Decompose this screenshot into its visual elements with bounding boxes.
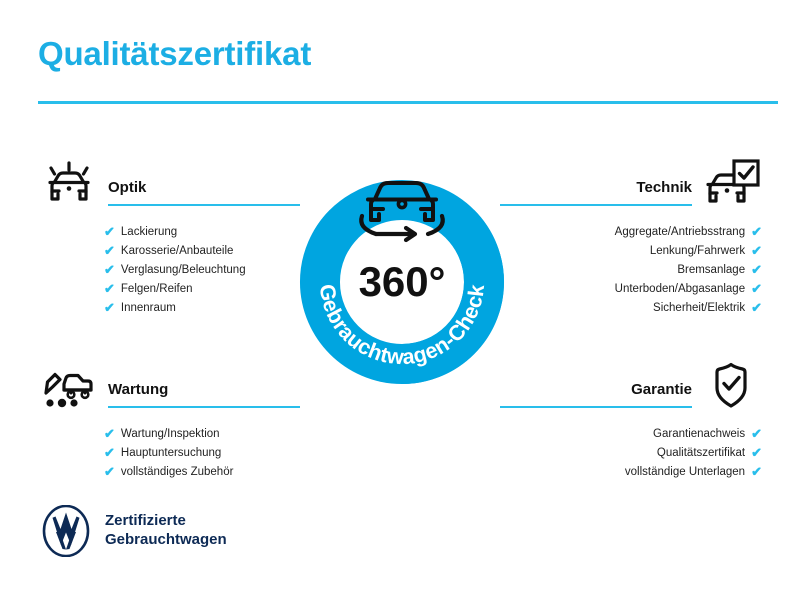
left-column: Optik ✔ Lackierung ✔ Karosserie/Anbautei… (38, 158, 300, 510)
section-technik-title-wrap: Technik (500, 158, 692, 206)
list-item: ✔ Qualitätszertifikat (657, 444, 762, 463)
check-icon: ✔ (104, 282, 115, 295)
list-item: ✔ Sicherheit/Elektrik (653, 299, 762, 318)
list-item: ✔ Lenkung/Fahrwerk (650, 242, 762, 261)
car-check-icon (700, 158, 762, 212)
list-item-label: Lenkung/Fahrwerk (650, 242, 745, 261)
list-item-label: Wartung/Inspektion (121, 425, 220, 444)
check-icon: ✔ (751, 301, 762, 314)
list-item: ✔ Wartung/Inspektion (104, 425, 300, 444)
section-optik: Optik ✔ Lackierung ✔ Karosserie/Anbautei… (38, 158, 300, 318)
list-item: ✔ Bremsanlage (677, 261, 762, 280)
list-item-label: Qualitätszertifikat (657, 444, 745, 463)
list-item: ✔ vollständige Unterlagen (625, 463, 762, 482)
section-title: Optik (108, 180, 300, 197)
section-garantie-header: Garantie (500, 360, 762, 416)
section-underline (108, 406, 300, 408)
list-item-label: Lackierung (121, 223, 177, 242)
section-garantie-list: ✔ Garantienachweis ✔ Qualitätszertifikat… (500, 425, 762, 482)
list-item-label: vollständige Unterlagen (625, 463, 745, 482)
list-item-label: Unterboden/Abgasanlage (615, 280, 745, 299)
car-service-icon (38, 360, 100, 414)
shield-check-icon (700, 360, 762, 414)
check-icon: ✔ (751, 446, 762, 459)
section-title: Technik (500, 180, 692, 197)
check-icon: ✔ (751, 465, 762, 478)
list-item-label: vollständiges Zubehör (121, 463, 234, 482)
check-icon: ✔ (104, 465, 115, 478)
list-item: ✔ vollständiges Zubehör (104, 463, 300, 482)
section-underline (500, 204, 692, 206)
section-technik-header: Technik (500, 158, 762, 214)
vw-brand-label: Zertifizierte Gebrauchtwagen (105, 512, 227, 550)
check-icon: ✔ (751, 244, 762, 257)
check-icon: ✔ (751, 263, 762, 276)
car-shine-icon (38, 158, 100, 212)
check-icon: ✔ (104, 446, 115, 459)
section-wartung-list: ✔ Wartung/Inspektion ✔ Hauptuntersuchung… (38, 425, 300, 482)
certificate-page: Qualitätszertifikat (0, 0, 800, 600)
360-check-badge: Gebrauchtwagen-Check 360° (296, 152, 508, 388)
check-icon: ✔ (104, 301, 115, 314)
section-wartung: Wartung ✔ Wartung/Inspektion ✔ Hauptunte… (38, 360, 300, 482)
check-icon: ✔ (104, 225, 115, 238)
list-item: ✔ Garantienachweis (653, 425, 762, 444)
list-item: ✔ Lackierung (104, 223, 300, 242)
list-item-label: Garantienachweis (653, 425, 745, 444)
list-item: ✔ Karosserie/Anbauteile (104, 242, 300, 261)
list-item-label: Hauptuntersuchung (121, 444, 221, 463)
list-item-label: Aggregate/Antriebsstrang (615, 223, 745, 242)
section-optik-list: ✔ Lackierung ✔ Karosserie/Anbauteile ✔ V… (38, 223, 300, 318)
section-technik: Technik ✔ Aggregate/Antriebsstrang ✔ Len… (500, 158, 762, 318)
section-underline (500, 406, 692, 408)
check-icon: ✔ (751, 427, 762, 440)
list-item-label: Innenraum (121, 299, 176, 318)
right-column: Technik ✔ Aggregate/Antriebsstrang ✔ Len… (500, 158, 762, 510)
section-wartung-header: Wartung (38, 360, 300, 416)
section-optik-header: Optik (38, 158, 300, 214)
check-icon: ✔ (104, 244, 115, 257)
section-garantie: Garantie ✔ Garantienachweis ✔ Qualitätsz… (500, 360, 762, 482)
list-item: ✔ Aggregate/Antriebsstrang (615, 223, 762, 242)
section-optik-title-wrap: Optik (108, 158, 300, 206)
section-technik-list: ✔ Aggregate/Antriebsstrang ✔ Lenkung/Fah… (500, 223, 762, 318)
section-wartung-title-wrap: Wartung (108, 360, 300, 408)
page-header: Qualitätszertifikat (38, 36, 778, 104)
badge-center-label: 360° (359, 258, 446, 305)
check-icon: ✔ (751, 225, 762, 238)
list-item-label: Verglasung/Beleuchtung (121, 261, 246, 280)
section-garantie-title-wrap: Garantie (500, 360, 692, 408)
vw-brand-footer: Zertifizierte Gebrauchtwagen (40, 505, 227, 557)
list-item-label: Bremsanlage (677, 261, 745, 280)
check-icon: ✔ (104, 427, 115, 440)
list-item: ✔ Hauptuntersuchung (104, 444, 300, 463)
section-underline (108, 204, 300, 206)
list-item-label: Sicherheit/Elektrik (653, 299, 745, 318)
vw-logo-icon (40, 505, 92, 557)
list-item: ✔ Unterboden/Abgasanlage (615, 280, 762, 299)
list-item: ✔ Verglasung/Beleuchtung (104, 261, 300, 280)
list-item: ✔ Innenraum (104, 299, 300, 318)
list-item-label: Felgen/Reifen (121, 280, 193, 299)
check-icon: ✔ (104, 263, 115, 276)
header-divider (38, 101, 778, 104)
list-item: ✔ Felgen/Reifen (104, 280, 300, 299)
page-title: Qualitätszertifikat (38, 36, 778, 72)
section-title: Garantie (500, 382, 692, 399)
check-icon: ✔ (751, 282, 762, 295)
list-item-label: Karosserie/Anbauteile (121, 242, 234, 261)
section-title: Wartung (108, 382, 300, 399)
